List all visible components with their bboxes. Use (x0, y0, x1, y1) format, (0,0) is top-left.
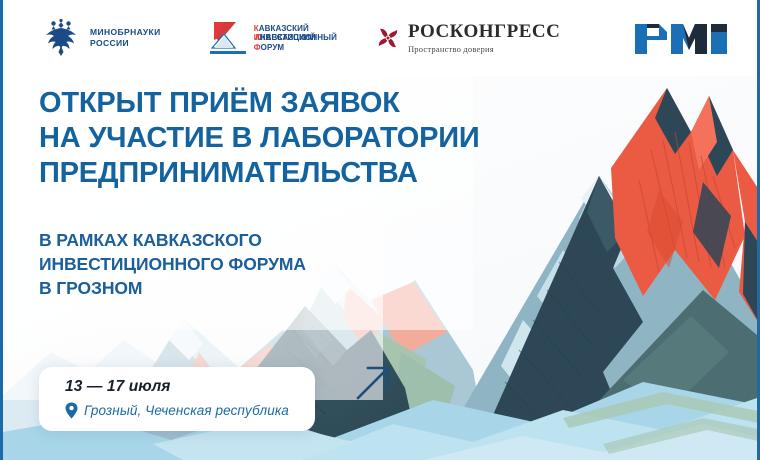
letter-k-mountain-logo-icon (208, 18, 248, 58)
logo-bar: МИНОБРНАУКИ РОССИИ ККАВКАЗСКИЙ КАВКАЗСК (3, 0, 760, 76)
page-title: ОТКРЫТ ПРИЁМ ЗАЯВОК НА УЧАСТИЕ В ЛАБОРАТ… (39, 86, 639, 191)
event-date-range: 13 — 17 июля (65, 378, 289, 396)
event-location-row: Грозный, Чеченская республика (65, 402, 289, 419)
location-pin-icon (65, 402, 78, 419)
roscongress-pinwheel-flower-logo-icon (375, 25, 401, 51)
russian-double-headed-eagle-emblem-icon (41, 16, 81, 60)
event-date-card: 13 — 17 июля Грозный, Чеченская республи… (39, 367, 315, 431)
promo-banner: МИНОБРНАУКИ РОССИИ ККАВКАЗСКИЙ КАВКАЗСК (0, 0, 760, 460)
logo-kavkazskiy-investitsionnyy-forum: ККАВКАЗСКИЙ КАВКАЗСКИЙ ИНВЕСТИЦИОННЫЙ ФО… (208, 18, 337, 58)
minobrnauki-label: МИНОБРНАУКИ РОССИИ (90, 27, 161, 49)
page-subtitle: В РАМКАХ КАВКАЗСКОГО ИНВЕСТИЦИОННОГО ФОР… (39, 228, 509, 300)
logo-minobrnauki: МИНОБРНАУКИ РОССИИ (41, 16, 161, 60)
kif-label-lines: КАВКАЗСКИЙ ИНВЕСТИЦИОННЫЙ ФОРУМ (254, 24, 337, 53)
logo-roscongress: РОСКОНГРЕСС Пространство доверия (375, 22, 560, 54)
diagonal-arrow-up-right-icon (348, 358, 398, 408)
roscongress-tagline: Пространство доверия (408, 44, 560, 54)
roscongress-name: РОСКОНГРЕСС (408, 22, 560, 42)
event-location: Грозный, Чеченская республика (84, 403, 289, 418)
rmp-geometric-logo-icon (633, 18, 727, 58)
logo-rmp (633, 18, 727, 58)
